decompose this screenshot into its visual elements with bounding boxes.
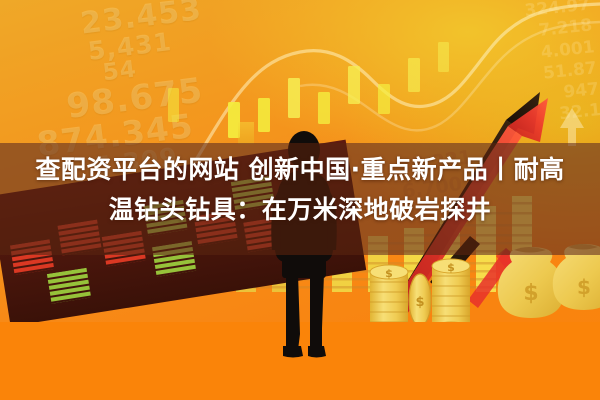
dollar-sign: $ (577, 275, 591, 299)
headline: 查配资平台的网站 创新中国·重点新产品丨耐高 温钻头钻具：在万米深地破岩探井 (0, 150, 600, 230)
news-banner: 23.453 5,431 54 98.675 874.345 5.309 2.3… (0, 0, 600, 400)
dollar-sign: $ (447, 261, 455, 274)
standing-coin: $ (409, 274, 431, 326)
dollar-sign: $ (523, 281, 538, 306)
headline-line-1: 查配资平台的网站 创新中国·重点新产品丨耐高 (22, 150, 578, 190)
headline-line-2: 温钻头钻具：在万米深地破岩探井 (22, 190, 578, 230)
dollar-sign: $ (415, 295, 424, 310)
dollar-sign: $ (385, 267, 393, 280)
